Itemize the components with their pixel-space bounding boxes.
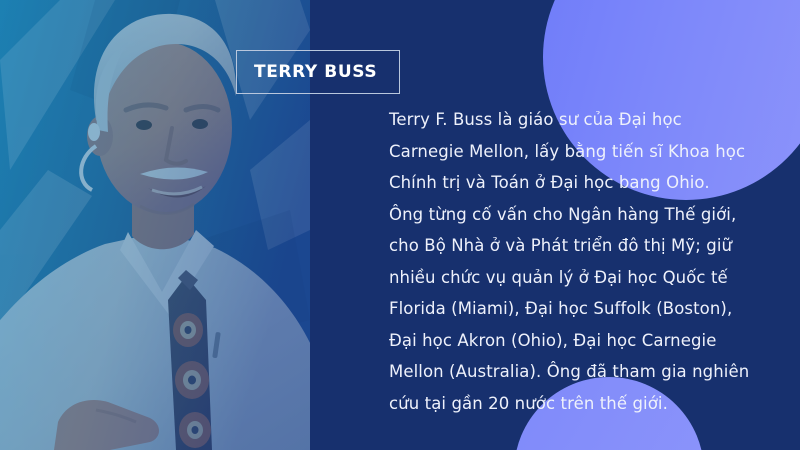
name-plate: TERRY BUSS	[236, 50, 400, 94]
bio-text: Terry F. Buss là giáo sư của Đại học Car…	[389, 104, 761, 419]
name-plate-label: TERRY BUSS	[254, 62, 377, 82]
profile-slide: TERRY BUSS Terry F. Buss là giáo sư của …	[0, 0, 800, 450]
